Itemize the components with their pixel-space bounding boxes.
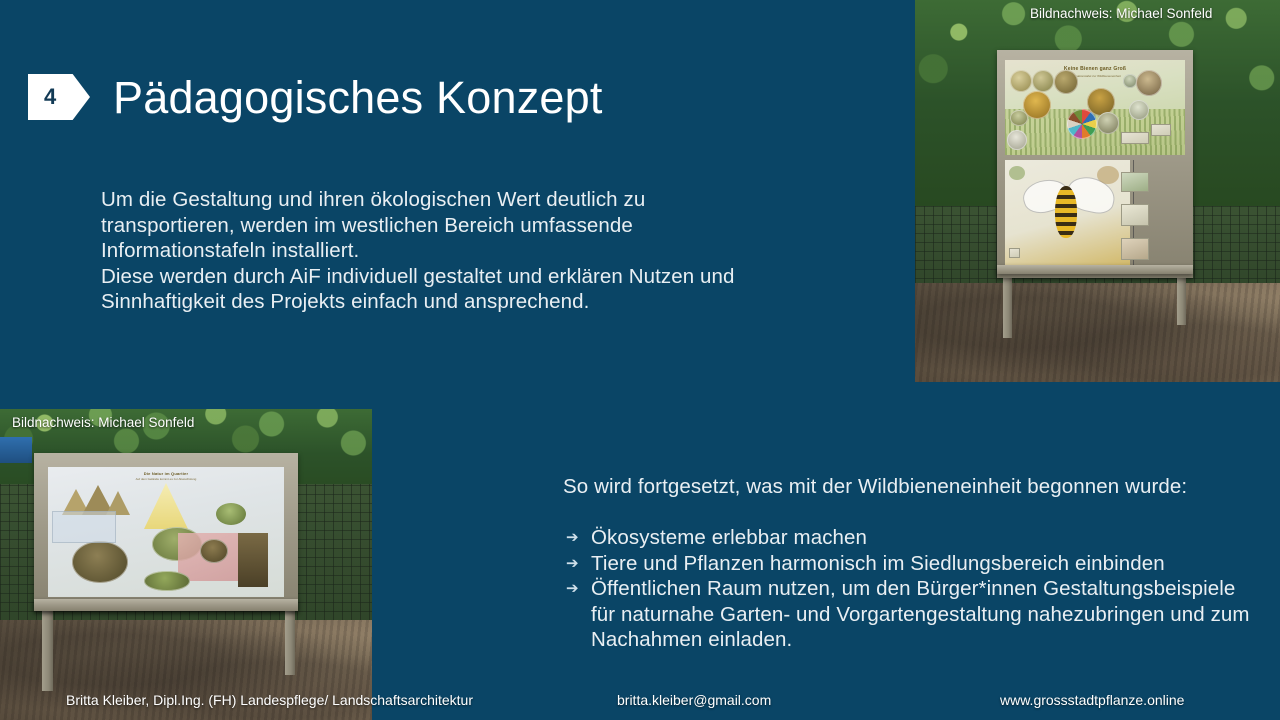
footer-website[interactable]: www.grossstadtpflanze.online (1000, 692, 1184, 709)
footer-email[interactable]: britta.kleiber@gmail.com (617, 692, 771, 709)
slide-header: 4 Pädagogisches Konzept (28, 64, 603, 130)
intro-paragraph: Um die Gestaltung und ihren ökologischen… (101, 187, 831, 315)
intro-line: Informationstafeln installiert. (101, 238, 831, 264)
list-item: ➔ Tiere und Pflanzen harmonisch im Siedl… (563, 551, 1263, 577)
list-item: ➔ Öffentlichen Raum nutzen, um den Bürge… (563, 576, 1263, 653)
page-title: Pädagogisches Konzept (113, 75, 603, 120)
list-item-label: Öffentlichen Raum nutzen, um den Bürger*… (591, 576, 1263, 653)
photo-scene: Die Natur im Quartier Auf dem Gelände ko… (0, 409, 372, 720)
board-panel-title: Keine Bienen ganz Groß (1005, 66, 1185, 72)
photo-credit-caption: Bildnachweis: Michael Sonfeld (1030, 6, 1212, 22)
photo-information-board-bottom-left: Die Natur im Quartier Auf dem Gelände ko… (0, 409, 372, 720)
intro-line: Diese werden durch AiF individuell gesta… (101, 264, 831, 290)
list-item-label: Tiere und Pflanzen harmonisch im Siedlun… (591, 551, 1165, 577)
goals-list: ➔ Ökosysteme erlebbar machen ➔ Tiere und… (563, 525, 1263, 653)
step-number-badge: 4 (28, 74, 90, 120)
photo-information-board-top-right: Keine Bienen ganz Groß Informationstafel… (915, 0, 1280, 382)
board-panel-subtitle: Auf dem Gelände kommt es zur Abwechslung (48, 477, 284, 481)
footer-author: Britta Kleiber, Dipl.Ing. (FH) Landespfl… (66, 692, 473, 709)
intro-line: Sinnhaftigkeit des Projekts einfach und … (101, 289, 831, 315)
arrow-bullet-icon: ➔ (563, 576, 591, 602)
board-panel-title: Die Natur im Quartier (48, 471, 284, 476)
list-item-label: Ökosysteme erlebbar machen (591, 525, 867, 551)
arrow-bullet-icon: ➔ (563, 551, 591, 577)
photo-credit-caption: Bildnachweis: Michael Sonfeld (12, 415, 194, 431)
intro-line: transportieren, werden im westlichen Ber… (101, 213, 831, 239)
photo-scene: Keine Bienen ganz Groß Informationstafel… (915, 0, 1280, 382)
goals-lead-text: So wird fortgesetzt, was mit der Wildbie… (563, 474, 1263, 499)
presentation-slide: 4 Pädagogisches Konzept Um die Gestaltun… (0, 0, 1280, 720)
goals-block: So wird fortgesetzt, was mit der Wildbie… (563, 474, 1263, 653)
arrow-bullet-icon: ➔ (563, 525, 591, 551)
step-number-label: 4 (44, 86, 56, 108)
list-item: ➔ Ökosysteme erlebbar machen (563, 525, 1263, 551)
intro-line: Um die Gestaltung und ihren ökologischen… (101, 187, 831, 213)
